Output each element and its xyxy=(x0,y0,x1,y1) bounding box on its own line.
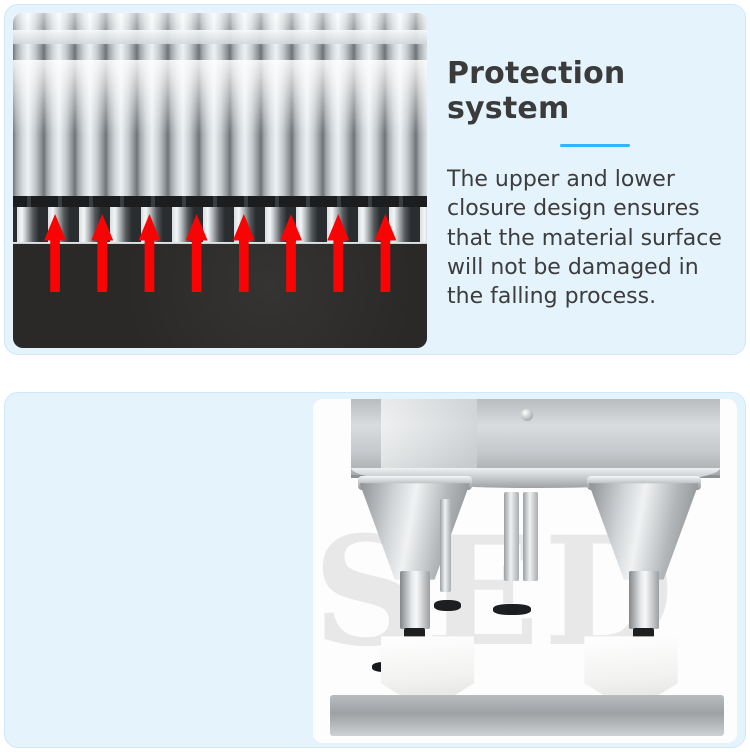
hopper-bolt xyxy=(521,409,533,421)
support-post-right xyxy=(709,399,720,733)
guide-rod-small xyxy=(440,499,451,592)
page-root: Protection system The upper and lower cl… xyxy=(0,0,750,752)
page-title-protection: Protection system xyxy=(447,57,739,126)
adjuster-foot-small xyxy=(434,600,462,611)
guide-rod-center-b xyxy=(523,492,538,581)
bottle-locator-photo: SED xyxy=(313,399,737,743)
guide-rod-center-a xyxy=(504,492,519,581)
body-text-protection: The upper and lower closure design ensur… xyxy=(447,165,739,311)
filling-nozzle-left xyxy=(400,571,430,629)
protection-system-text-block: Protection system The upper and lower cl… xyxy=(447,57,739,311)
adjuster-foot-center xyxy=(493,604,531,615)
dark-background-area xyxy=(13,244,427,348)
title-divider-protection xyxy=(560,144,630,147)
feature-card-bottle-locator: Bottle locator The V locator can be adju… xyxy=(4,392,746,748)
hopper-body xyxy=(351,399,720,478)
chute-lower-channels xyxy=(13,207,427,247)
support-post-left xyxy=(334,399,345,733)
protection-system-photo xyxy=(13,13,427,348)
feature-card-protection-system: Protection system The upper and lower cl… xyxy=(4,4,746,355)
metal-sheen xyxy=(13,60,427,134)
filling-nozzle-right xyxy=(629,571,659,629)
machine-base-plate xyxy=(330,695,724,736)
